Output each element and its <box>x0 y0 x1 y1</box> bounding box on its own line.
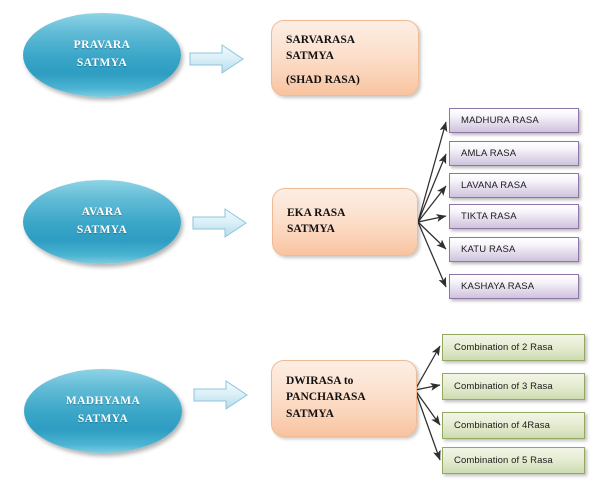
box-sarvarasa-satmya[interactable]: SARVARASA SATMYA (SHAD RASA) <box>271 20 419 96</box>
box-madhura-rasa[interactable]: MADHURA RASA <box>449 108 579 133</box>
box-eka-rasa-line-1: EKA RASA <box>287 205 417 221</box>
satmya-rasa-diagram: PRAVARA SATMYA SARVARASA SATMYA (SHAD RA… <box>0 0 600 498</box>
box-kashaya-rasa[interactable]: KASHAYA RASA <box>449 274 579 299</box>
box-amla-rasa-label: AMLA RASA <box>461 148 516 159</box>
block-arrow-madhyama-to-dwirasa <box>193 378 249 412</box>
block-arrow-avara-to-eka-rasa <box>192 206 248 240</box>
box-dwirasa-line-2: PANCHARASA <box>286 389 416 405</box>
box-sarvarasa-sub: (SHAD RASA) <box>286 72 418 88</box>
box-madhura-rasa-label: MADHURA RASA <box>461 115 539 126</box>
box-sarvarasa-line-2: SATMYA <box>286 48 418 64</box>
box-kashaya-rasa-label: KASHAYA RASA <box>461 281 534 292</box>
block-arrow-pravara-to-sarvarasa <box>189 42 245 76</box>
box-katu-rasa-label: KATU RASA <box>461 244 516 255</box>
box-combination-5-rasa-label: Combination of 5 Rasa <box>454 455 553 466</box>
box-sarvarasa-spacer <box>286 65 418 72</box>
box-combination-2-rasa[interactable]: Combination of 2 Rasa <box>442 334 585 361</box>
ellipse-pravara-satmya[interactable]: PRAVARA SATMYA <box>23 13 181 97</box>
ellipse-madhyama-line-2: SATMYA <box>78 411 128 429</box>
box-combination-3-rasa-label: Combination of 3 Rasa <box>454 381 553 392</box>
box-katu-rasa[interactable]: KATU RASA <box>449 237 579 262</box>
box-dwirasa-pancharasa-satmya[interactable]: DWIRASA to PANCHARASA SATMYA <box>271 360 417 437</box>
ellipse-pravara-line-1: PRAVARA <box>74 37 131 55</box>
ellipse-madhyama-line-1: MADHYAMA <box>66 393 140 411</box>
box-dwirasa-line-3: SATMYA <box>286 406 416 422</box>
box-eka-rasa-satmya[interactable]: EKA RASA SATMYA <box>272 188 418 256</box>
box-combination-2-rasa-label: Combination of 2 Rasa <box>454 342 553 353</box>
box-combination-4-rasa[interactable]: Combination of 4Rasa <box>442 412 585 439</box>
box-tikta-rasa[interactable]: TIKTA RASA <box>449 204 579 229</box>
box-lavana-rasa[interactable]: LAVANA RASA <box>449 173 579 198</box>
box-tikta-rasa-label: TIKTA RASA <box>461 211 517 222</box>
box-combination-3-rasa[interactable]: Combination of 3 Rasa <box>442 373 585 400</box>
box-combination-5-rasa[interactable]: Combination of 5 Rasa <box>442 447 585 474</box>
ellipse-avara-satmya[interactable]: AVARA SATMYA <box>23 180 181 264</box>
box-combination-4-rasa-label: Combination of 4Rasa <box>454 420 550 431</box>
dwirasa-connectors <box>415 346 440 460</box>
ellipse-avara-line-2: SATMYA <box>77 222 127 240</box>
eka-rasa-connectors <box>418 122 446 287</box>
box-eka-rasa-line-2: SATMYA <box>287 221 417 237</box>
ellipse-pravara-line-2: SATMYA <box>77 55 127 73</box>
box-lavana-rasa-label: LAVANA RASA <box>461 180 527 191</box>
box-dwirasa-line-1: DWIRASA to <box>286 373 416 389</box>
ellipse-avara-line-1: AVARA <box>82 204 123 222</box>
ellipse-madhyama-satmya[interactable]: MADHYAMA SATMYA <box>24 369 182 453</box>
box-amla-rasa[interactable]: AMLA RASA <box>449 141 579 166</box>
box-sarvarasa-line-1: SARVARASA <box>286 32 418 48</box>
